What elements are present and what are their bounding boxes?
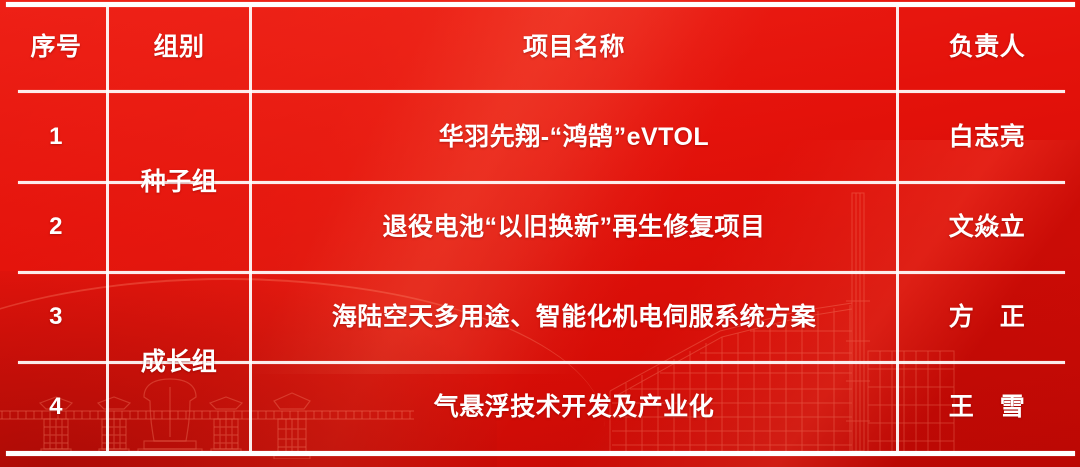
header-cell-group: 组别 [109,5,249,90]
cell-index-2: 2 [6,183,106,271]
table-bottom-border [6,451,1075,456]
poster-table-stage: 序号 组别 项目名称 负责人 1 2 3 4 种子组 成长组 华羽先翔-“鸿鹄”… [0,0,1080,467]
cell-project-2: 退役电池“以旧换新”再生修复项目 [252,183,896,271]
cell-owner-3: 方 正 [899,273,1075,361]
header-cell-owner: 负责人 [899,5,1075,90]
cell-owner-4: 王 雪 [899,363,1075,451]
cell-owner-2: 文焱立 [899,183,1075,271]
cell-project-4: 气悬浮技术开发及产业化 [252,363,896,451]
cell-index-4: 4 [6,363,106,451]
cell-index-1: 1 [6,93,106,181]
header-cell-project: 项目名称 [252,5,896,90]
cell-group-growth: 成长组 [109,273,249,451]
results-table: 序号 组别 项目名称 负责人 1 2 3 4 种子组 成长组 华羽先翔-“鸿鹄”… [0,0,1080,467]
cell-index-3: 3 [6,273,106,361]
header-cell-index: 序号 [6,5,106,90]
cell-owner-1: 白志亮 [899,93,1075,181]
cell-project-3: 海陆空天多用途、智能化机电伺服系统方案 [252,273,896,361]
cell-project-1: 华羽先翔-“鸿鹄”eVTOL [252,93,896,181]
cell-group-seed: 种子组 [109,93,249,271]
